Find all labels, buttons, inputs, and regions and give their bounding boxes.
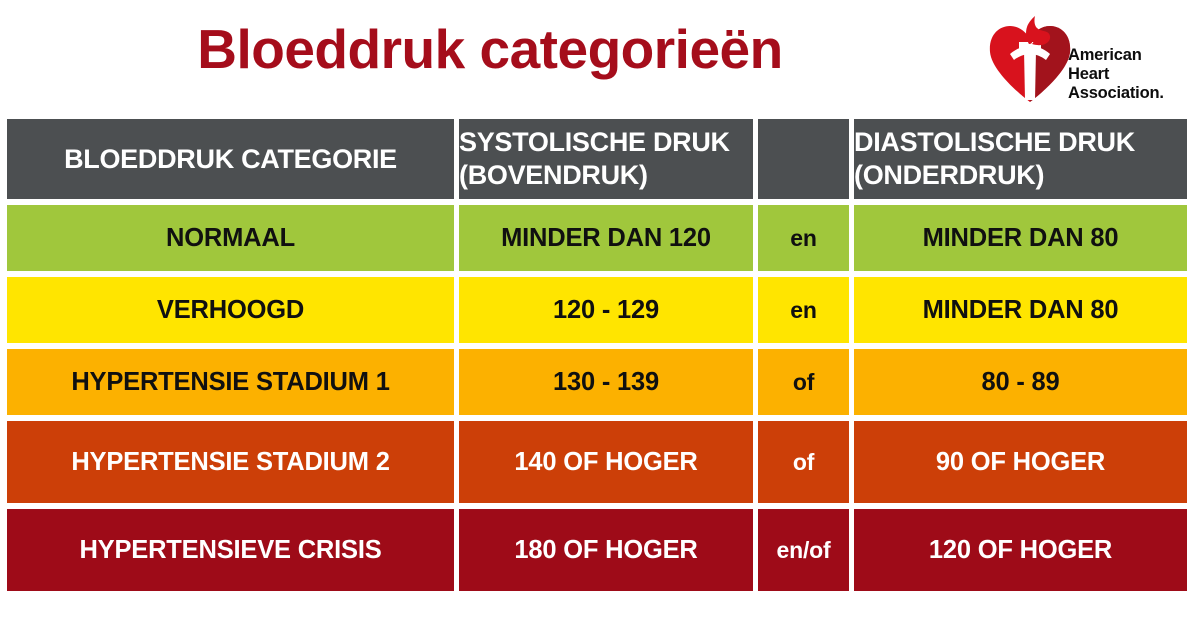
table-row: HYPERTENSIE STADIUM 2 140 OF HOGER of 90… — [7, 421, 1187, 509]
header-cell-diastolic: DIASTOLISCHE DRUK (ONDERDRUK) — [854, 119, 1187, 205]
page-title: Bloeddruk categorieën — [0, 14, 980, 84]
blood-pressure-categories-table: BLOEDDRUK CATEGORIE SYSTOLISCHE DRUK (BO… — [7, 119, 1187, 591]
cell-systolic: 180 OF HOGER — [459, 509, 758, 591]
cell-systolic: 120 - 129 — [459, 277, 758, 349]
cell-diastolic: 90 OF HOGER — [854, 421, 1187, 509]
cell-diastolic: 80 - 89 — [854, 349, 1187, 421]
cell-conjunction: en — [758, 205, 854, 277]
table-row: VERHOOGD 120 - 129 en MINDER DAN 80 — [7, 277, 1187, 349]
cell-conjunction: of — [758, 349, 854, 421]
header-cell-conjunction — [758, 119, 854, 205]
table-header-row: BLOEDDRUK CATEGORIE SYSTOLISCHE DRUK (BO… — [7, 119, 1187, 205]
header-diastolic-line2: (ONDERDRUK) — [854, 160, 1044, 190]
american-heart-association-logo: American Heart Association. — [988, 12, 1194, 108]
logo-line-association: Association. — [1068, 84, 1196, 103]
cell-category: HYPERTENSIE STADIUM 2 — [7, 421, 459, 509]
cell-systolic: 140 OF HOGER — [459, 421, 758, 509]
cell-diastolic: MINDER DAN 80 — [854, 205, 1187, 277]
logo-wordmark: American Heart Association. — [1068, 46, 1196, 103]
cell-category: HYPERTENSIE STADIUM 1 — [7, 349, 459, 421]
logo-line-american: American — [1068, 46, 1196, 65]
cell-conjunction: en/of — [758, 509, 854, 591]
cell-systolic: MINDER DAN 120 — [459, 205, 758, 277]
header-systolic-line2: (BOVENDRUK) — [459, 160, 648, 190]
table-row: HYPERTENSIEVE CRISIS 180 OF HOGER en/of … — [7, 509, 1187, 591]
header-diastolic-line1: DIASTOLISCHE DRUK — [854, 127, 1135, 157]
cell-category: VERHOOGD — [7, 277, 459, 349]
cell-conjunction: of — [758, 421, 854, 509]
cell-conjunction: en — [758, 277, 854, 349]
table-row: NORMAAL MINDER DAN 120 en MINDER DAN 80 — [7, 205, 1187, 277]
cell-category: HYPERTENSIEVE CRISIS — [7, 509, 459, 591]
cell-diastolic: 120 OF HOGER — [854, 509, 1187, 591]
page-header: Bloeddruk categorieën American Heart Ass… — [0, 0, 1200, 118]
header-systolic-line1: SYSTOLISCHE DRUK — [459, 127, 730, 157]
cell-category: NORMAAL — [7, 205, 459, 277]
header-cell-systolic: SYSTOLISCHE DRUK (BOVENDRUK) — [459, 119, 758, 205]
heart-torch-icon — [988, 14, 1072, 106]
header-cell-category: BLOEDDRUK CATEGORIE — [7, 119, 459, 205]
cell-diastolic: MINDER DAN 80 — [854, 277, 1187, 349]
table-row: HYPERTENSIE STADIUM 1 130 - 139 of 80 - … — [7, 349, 1187, 421]
logo-line-heart: Heart — [1068, 65, 1196, 84]
cell-systolic: 130 - 139 — [459, 349, 758, 421]
